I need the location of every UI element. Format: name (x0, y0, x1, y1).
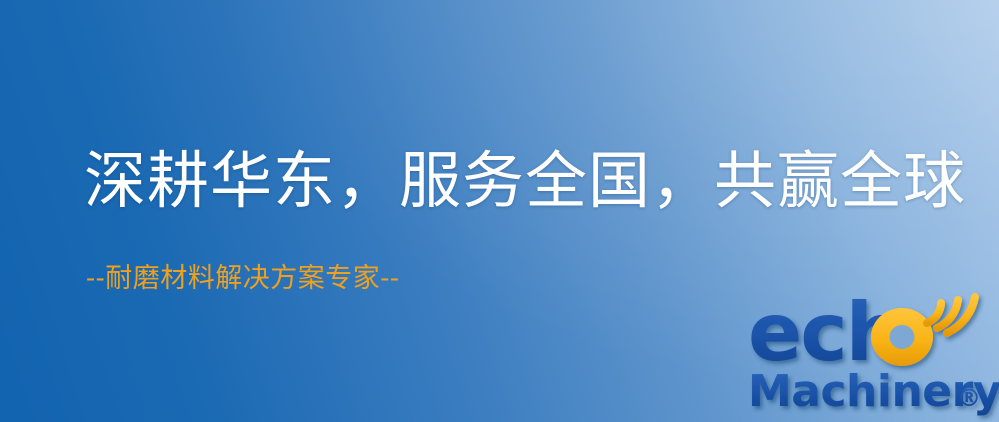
banner-subtitle: --耐磨材料解决方案专家-- (86, 264, 400, 294)
wifi-signal-arcs-icon (927, 297, 975, 333)
logo-registered-mark: ® (957, 384, 981, 412)
promo-banner: 深耕华东，服务全国，共赢全球 --耐磨材料解决方案专家-- (0, 0, 999, 422)
logo-letter-o-gold (871, 308, 933, 366)
banner-headline: 深耕华东，服务全国，共赢全球 (84, 148, 966, 215)
echo-machinery-logo[interactable]: ech Machinery ® (744, 288, 999, 422)
